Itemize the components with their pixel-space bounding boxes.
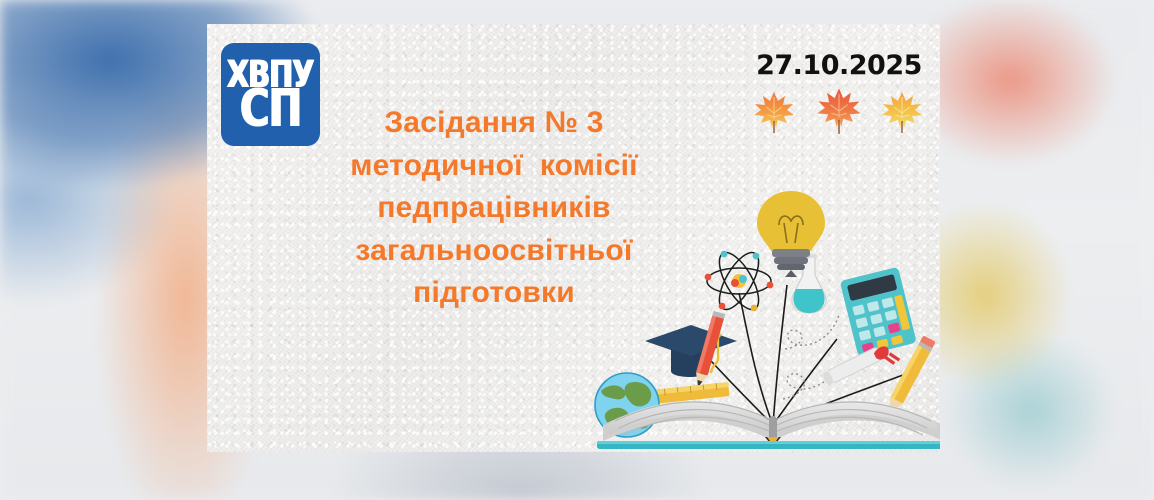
yellow-ruler	[652, 382, 729, 404]
title-line-3: педпрацівників	[289, 187, 699, 230]
title-line-1: Засідання № 3	[289, 102, 699, 145]
poster-card: ХВПУ СП Засідання № 3 методичної комісії…	[207, 24, 940, 452]
atom	[705, 247, 774, 315]
maple-leaf-left	[754, 92, 794, 133]
graduation-cap	[645, 325, 737, 377]
title-line-5: підготовки	[289, 272, 699, 315]
maple-leaf-right	[882, 92, 922, 133]
open-book	[597, 401, 940, 449]
logo-line-2: СП	[240, 88, 301, 132]
institution-logo: ХВПУ СП	[221, 43, 320, 146]
title-line-2: методичної комісії	[289, 145, 699, 188]
title-line-4: загальноосвітньої	[289, 230, 699, 273]
date-block: 27.10.2025	[744, 50, 934, 133]
autumn-leaves-decoration	[744, 87, 934, 133]
event-date: 27.10.2025	[744, 50, 934, 81]
calculator	[840, 267, 917, 357]
poster-title: Засідання № 3 методичної комісії педпрац…	[289, 102, 699, 315]
maple-leaf-center	[817, 88, 860, 133]
